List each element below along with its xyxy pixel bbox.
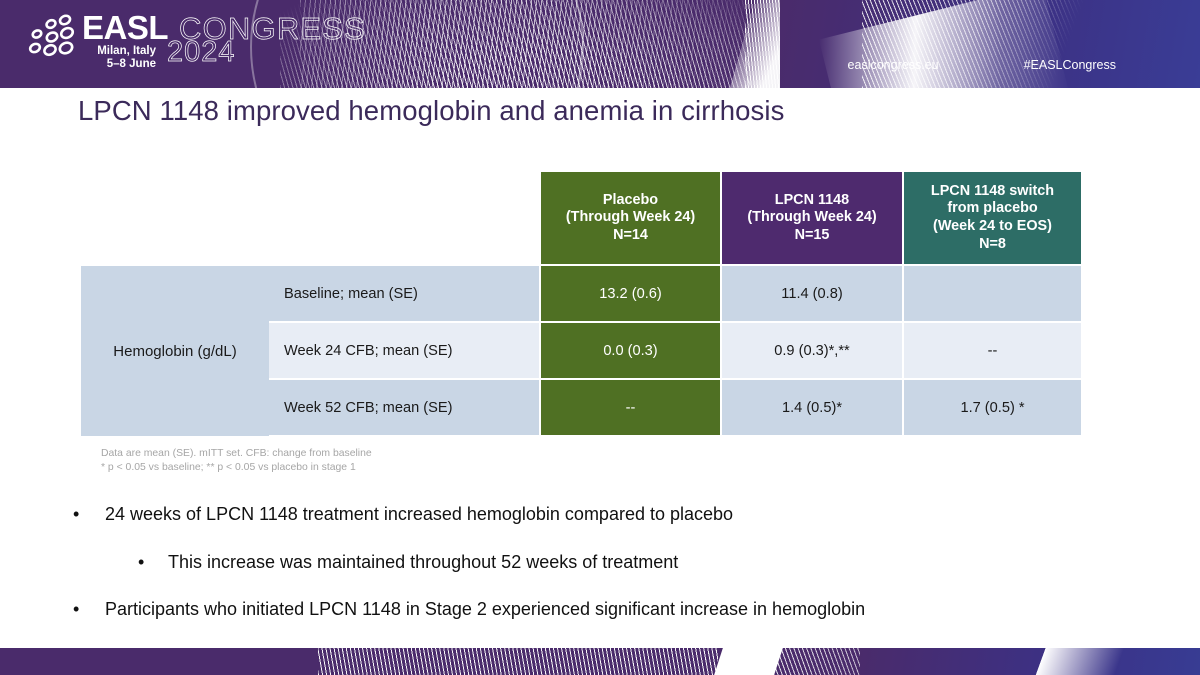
row-label: Week 24 CFB; mean (SE) [269, 323, 539, 378]
cell-placebo: -- [541, 380, 720, 435]
logo-location: Milan, Italy 5–8 June [82, 45, 156, 71]
header-line: (Through Week 24) [747, 209, 876, 227]
row-label: Baseline; mean (SE) [269, 266, 539, 321]
header-line: LPCN 1148 [747, 192, 876, 210]
logo-location-line2: 5–8 June [82, 58, 156, 71]
bottom-banner-swoosh-1 [711, 648, 785, 675]
table-rows: Baseline; mean (SE) 13.2 (0.6) 11.4 (0.8… [269, 266, 1081, 436]
bottom-banner-moire-1 [318, 648, 718, 675]
table-header-row: Placebo (Through Week 24) N=14 LPCN 1148… [541, 172, 1081, 264]
bullet-marker: • [138, 551, 168, 574]
cell-lpcn1148: 1.4 (0.5)* [722, 380, 902, 435]
page-title: LPCN 1148 improved hemoglobin and anemia… [78, 95, 784, 127]
logo-brand: EASL [82, 12, 168, 43]
bullet-text: This increase was maintained throughout … [168, 551, 678, 574]
table-header-lpcn1148-switch: LPCN 1148 switch from placebo (Week 24 t… [904, 172, 1081, 264]
header-line: N=14 [566, 227, 695, 245]
bullet-marker: • [70, 598, 105, 621]
cell-lpcn1148-switch: 1.7 (0.5) * [904, 380, 1081, 435]
header-line: N=15 [747, 227, 876, 245]
results-table: Placebo (Through Week 24) N=14 LPCN 1148… [81, 172, 1081, 436]
footnote-line-2: * p < 0.05 vs baseline; ** p < 0.05 vs p… [101, 461, 372, 475]
table-header-placebo: Placebo (Through Week 24) N=14 [541, 172, 720, 264]
bullet-marker: • [70, 503, 105, 526]
cell-lpcn1148: 11.4 (0.8) [722, 266, 902, 321]
header-line: LPCN 1148 switch [931, 183, 1054, 201]
table-header-lpcn1148: LPCN 1148 (Through Week 24) N=15 [722, 172, 902, 264]
logo-year: 2024 [167, 41, 236, 64]
cell-placebo: 0.0 (0.3) [541, 323, 720, 378]
bullet-list: • 24 weeks of LPCN 1148 treatment increa… [70, 503, 1130, 646]
header-line: (Through Week 24) [566, 209, 695, 227]
table-row: Week 24 CFB; mean (SE) 0.0 (0.3) 0.9 (0.… [269, 323, 1081, 378]
table-row-group-label: Hemoglobin (g/dL) [81, 266, 269, 436]
bullet-text: 24 weeks of LPCN 1148 treatment increase… [105, 503, 733, 526]
logo-wordmark: EASL CONGRESS Milan, Italy 5–8 June 2024 [82, 12, 366, 71]
slide: EASL CONGRESS Milan, Italy 5–8 June 2024… [0, 0, 1200, 675]
bottom-banner [0, 648, 1200, 675]
banner-links: easlcongress.eu #EASLCongress [848, 58, 1116, 72]
row-label: Week 52 CFB; mean (SE) [269, 380, 539, 435]
bullet-item: • 24 weeks of LPCN 1148 treatment increa… [70, 503, 1130, 526]
table-row: Week 52 CFB; mean (SE) -- 1.4 (0.5)* 1.7… [269, 380, 1081, 435]
cell-lpcn1148-switch [904, 266, 1081, 321]
table-body: Hemoglobin (g/dL) Baseline; mean (SE) 13… [81, 266, 1081, 436]
cell-lpcn1148: 0.9 (0.3)*,** [722, 323, 902, 378]
header-line: N=8 [931, 236, 1054, 254]
easl-logo[interactable]: EASL CONGRESS Milan, Italy 5–8 June 2024 [18, 12, 366, 71]
bullet-text: Participants who initiated LPCN 1148 in … [105, 598, 865, 621]
footnote-line-1: Data are mean (SE). mITT set. CFB: chang… [101, 447, 372, 461]
header-line: from placebo [931, 200, 1054, 218]
bullet-item: • Participants who initiated LPCN 1148 i… [70, 598, 1130, 621]
logo-location-line1: Milan, Italy [82, 45, 156, 58]
banner-hashtag[interactable]: #EASLCongress [1024, 58, 1116, 72]
header-line: Placebo [566, 192, 695, 210]
cell-cluster-icon [18, 12, 80, 64]
cell-placebo: 13.2 (0.6) [541, 266, 720, 321]
bullet-item-sub: • This increase was maintained throughou… [70, 551, 1130, 574]
cell-lpcn1148-switch: -- [904, 323, 1081, 378]
bottom-banner-swoosh-2 [1032, 648, 1157, 675]
banner-website-link[interactable]: easlcongress.eu [848, 58, 939, 72]
table-footnote: Data are mean (SE). mITT set. CFB: chang… [101, 447, 372, 475]
header-line: (Week 24 to EOS) [931, 218, 1054, 236]
table-row: Baseline; mean (SE) 13.2 (0.6) 11.4 (0.8… [269, 266, 1081, 321]
top-banner: EASL CONGRESS Milan, Italy 5–8 June 2024… [0, 0, 1200, 88]
